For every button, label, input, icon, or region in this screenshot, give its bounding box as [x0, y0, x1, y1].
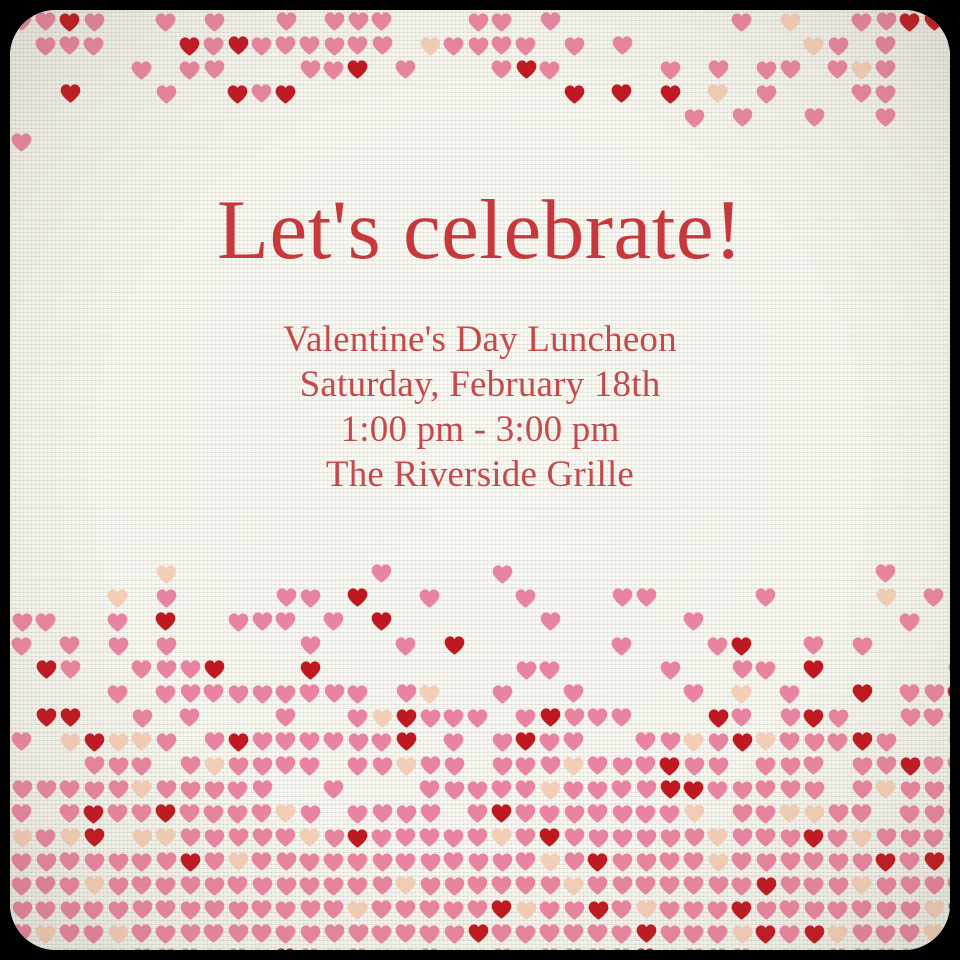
heart-icon [132, 947, 153, 950]
heart-icon [84, 852, 105, 873]
heart-icon [924, 875, 945, 896]
heart-icon [252, 827, 273, 848]
heart-icon [347, 900, 368, 921]
heart-icon [491, 803, 512, 824]
heart-icon [588, 828, 609, 849]
heart-icon [515, 851, 536, 872]
heart-icon [107, 948, 128, 950]
heart-icon [275, 731, 296, 752]
heart-icon [948, 732, 950, 753]
heart-icon [252, 876, 273, 897]
heart-icon [468, 12, 489, 33]
heart-icon [396, 708, 417, 729]
heart-icon [924, 11, 945, 32]
heart-icon [852, 756, 873, 777]
heart-icon [563, 923, 584, 944]
heart-icon [84, 875, 105, 896]
heart-icon [228, 35, 249, 56]
heart-icon [684, 947, 705, 950]
heart-icon [131, 779, 152, 800]
heart-icon [443, 900, 464, 921]
heart-icon [491, 923, 512, 944]
heart-icon [372, 948, 393, 950]
heart-icon [707, 900, 728, 921]
heart-icon [180, 780, 201, 801]
heart-icon [35, 612, 56, 633]
heart-icon [108, 876, 129, 897]
heart-icon [708, 756, 729, 777]
heart-icon [228, 851, 249, 872]
heart-icon [179, 707, 200, 728]
heart-icon [132, 899, 153, 920]
heart-icon [156, 636, 177, 657]
heart-icon [708, 708, 729, 729]
heart-icon [396, 683, 417, 704]
heart-icon [300, 588, 321, 609]
heart-icon [156, 779, 177, 800]
heart-icon [660, 660, 681, 681]
heart-icon [396, 731, 417, 752]
heart-icon [323, 876, 344, 897]
heart-icon [851, 899, 872, 920]
heart-icon [251, 923, 272, 944]
heart-icon [444, 635, 465, 656]
invitation-text-block: Let's celebrate! Valentine's Day Luncheo… [10, 188, 950, 497]
heart-icon [948, 851, 950, 872]
heart-icon [875, 779, 896, 800]
heart-icon [587, 852, 608, 873]
heart-icon [851, 83, 872, 104]
heart-icon [35, 828, 56, 849]
heart-icon [612, 587, 633, 608]
heart-icon [900, 947, 921, 950]
heart-icon [324, 11, 345, 32]
heart-icon [131, 60, 152, 81]
heart-icon [659, 875, 680, 896]
heart-icon [156, 588, 177, 609]
heart-icon [228, 827, 249, 848]
heart-icon [36, 948, 57, 950]
heart-icon [204, 828, 225, 849]
heart-icon [395, 899, 416, 920]
heart-icon [276, 11, 297, 32]
heart-icon [900, 707, 921, 728]
heart-icon [132, 708, 153, 729]
heart-icon [756, 84, 777, 105]
heart-icon [467, 708, 488, 729]
heart-icon [683, 611, 704, 632]
heart-icon [659, 948, 680, 950]
heart-icon [419, 899, 440, 920]
heart-icon [300, 804, 321, 825]
heart-icon [492, 756, 513, 777]
heart-icon [84, 948, 105, 950]
heart-icon [923, 707, 944, 728]
detail-line-event: Valentine's Day Luncheon [10, 317, 950, 362]
heart-icon [683, 924, 704, 945]
heart-icon [707, 947, 728, 950]
heart-icon [347, 876, 368, 897]
heart-icon [924, 804, 945, 825]
heart-icon [252, 684, 273, 705]
heart-icon [227, 84, 248, 105]
heart-icon [59, 851, 80, 872]
heart-icon [708, 875, 729, 896]
detail-line-venue: The Riverside Grille [10, 452, 950, 497]
heart-icon [59, 635, 80, 656]
heart-icon [780, 12, 801, 33]
heart-icon [851, 12, 872, 33]
heart-icon [179, 60, 200, 81]
heart-icon [108, 732, 129, 753]
heart-icon [252, 731, 273, 752]
heart-icon [876, 947, 897, 950]
heart-icon [515, 924, 536, 945]
heart-icon [204, 899, 225, 920]
heart-icon [252, 948, 273, 950]
heart-icon [131, 875, 152, 896]
heart-icon [755, 587, 776, 608]
heart-icon [204, 731, 225, 752]
heart-icon [491, 59, 512, 80]
heart-icon [612, 852, 633, 873]
heart-icon [251, 851, 272, 872]
heart-icon [827, 924, 848, 945]
heart-icon [323, 852, 344, 873]
heart-icon [347, 852, 368, 873]
heart-icon [299, 731, 320, 752]
heart-icon [180, 852, 201, 873]
heart-icon [107, 588, 128, 609]
heart-icon [156, 564, 177, 585]
heart-icon [828, 803, 849, 824]
heart-icon [131, 852, 152, 873]
heart-icon [155, 611, 176, 632]
heart-icon [636, 923, 657, 944]
heart-icon [419, 924, 440, 945]
heart-icon [108, 924, 129, 945]
heart-icon [731, 900, 752, 921]
heart-icon [155, 12, 176, 33]
heart-icon [204, 12, 225, 33]
heart-icon [467, 948, 488, 950]
heart-icon [228, 900, 249, 921]
heart-icon [947, 875, 950, 896]
heart-icon [660, 84, 681, 105]
heart-icon [803, 659, 824, 680]
heart-icon [563, 731, 584, 752]
heart-icon [491, 35, 512, 56]
heart-icon [299, 876, 320, 897]
heart-icon [923, 923, 944, 944]
heart-icon [852, 683, 873, 704]
heart-icon [227, 875, 248, 896]
heart-icon [587, 780, 608, 801]
heart-icon [899, 12, 920, 33]
heart-icon [203, 804, 224, 825]
heart-icon [659, 851, 680, 872]
heart-icon [252, 756, 273, 777]
heart-icon [275, 684, 296, 705]
heart-icon [876, 827, 897, 848]
heart-icon [827, 732, 848, 753]
heart-icon [204, 948, 225, 950]
heart-icon [228, 923, 249, 944]
heart-icon [444, 756, 465, 777]
heart-icon [804, 780, 825, 801]
heart-icon [275, 803, 296, 824]
heart-icon [468, 852, 489, 873]
heart-icon [35, 11, 56, 32]
heart-icon [780, 756, 801, 777]
heart-icon [180, 900, 201, 921]
heart-icon [275, 924, 296, 945]
heart-icon [227, 947, 248, 950]
heart-icon [155, 899, 176, 920]
heart-icon [804, 732, 825, 753]
heart-icon [683, 900, 704, 921]
heart-icon [275, 900, 296, 921]
heart-icon [515, 731, 536, 752]
heart-icon [923, 828, 944, 849]
heart-icon [923, 947, 944, 950]
heart-icon [827, 59, 848, 80]
heart-icon [851, 828, 872, 849]
heart-icon [539, 900, 560, 921]
heart-icon [731, 876, 752, 897]
heart-icon [540, 852, 561, 873]
heart-icon [12, 828, 33, 849]
heart-icon [755, 827, 776, 848]
heart-icon [12, 779, 33, 800]
heart-icon [539, 923, 560, 944]
heart-icon [59, 923, 80, 944]
heart-icon [828, 876, 849, 897]
heart-icon [11, 876, 32, 897]
heart-icon [155, 924, 176, 945]
heart-icon [323, 731, 344, 752]
heart-icon [156, 947, 177, 950]
heart-icon [60, 707, 81, 728]
heart-icon [683, 875, 704, 896]
heart-icon [372, 708, 393, 729]
heart-icon [852, 779, 873, 800]
heart-icon [395, 923, 416, 944]
heart-icon [732, 732, 753, 753]
heart-icon [227, 780, 248, 801]
heart-icon [324, 828, 345, 849]
heart-icon [851, 875, 872, 896]
heart-icon [107, 803, 128, 824]
heart-icon [564, 827, 585, 848]
heart-icon [684, 827, 705, 848]
heart-icon [660, 828, 681, 849]
heart-icon [683, 732, 704, 753]
heart-icon [228, 756, 249, 777]
heart-icon [251, 36, 272, 57]
heart-icon [924, 683, 945, 704]
heart-icon [59, 12, 80, 33]
heart-icon [60, 900, 81, 921]
heart-icon [492, 732, 513, 753]
heart-icon [900, 900, 921, 921]
heart-icon [851, 60, 872, 81]
heart-icon [588, 900, 609, 921]
heart-icon [828, 852, 849, 873]
heart-icon [468, 923, 489, 944]
heart-icon [756, 900, 777, 921]
heart-icon [539, 660, 560, 681]
heart-icon [563, 876, 584, 897]
heart-icon [443, 732, 464, 753]
heart-icon [875, 35, 896, 56]
heart-icon [516, 59, 537, 80]
heart-icon [300, 635, 321, 656]
heart-icon [323, 948, 344, 950]
heart-icon [11, 803, 32, 824]
heart-icon [876, 876, 897, 897]
heart-icon [299, 756, 320, 777]
heart-icon [228, 684, 249, 705]
heart-icon [108, 900, 129, 921]
heart-icon [444, 780, 465, 801]
heart-icon [708, 852, 729, 873]
heart-icon [371, 732, 392, 753]
heart-icon [180, 755, 201, 776]
heart-icon [875, 563, 896, 584]
heart-icon [660, 731, 681, 752]
heart-icon [131, 803, 152, 824]
heart-icon [779, 924, 800, 945]
heart-icon [636, 779, 657, 800]
heart-icon [347, 804, 368, 825]
heart-icon [515, 708, 536, 729]
heart-icon [347, 708, 368, 729]
heart-icon [539, 804, 560, 825]
heart-icon [83, 900, 104, 921]
heart-icon [299, 947, 320, 950]
heart-icon [923, 755, 944, 776]
heart-icon [636, 852, 657, 873]
heart-icon [347, 59, 368, 80]
heart-icon [755, 779, 776, 800]
heart-icon [900, 756, 921, 777]
heart-icon [156, 732, 177, 753]
heart-icon [251, 803, 272, 824]
detail-line-time: 1:00 pm - 3:00 pm [10, 407, 950, 452]
heart-icon [827, 900, 848, 921]
heart-icon [612, 804, 633, 825]
heart-icon [131, 756, 152, 777]
heart-icon [395, 59, 416, 80]
heart-icon [155, 803, 176, 824]
heart-icon [83, 36, 104, 57]
heart-icon [899, 804, 920, 825]
heart-icon [300, 924, 321, 945]
heart-icon [492, 947, 513, 950]
heart-icon [83, 804, 104, 825]
heart-icon [540, 755, 561, 776]
heart-icon [852, 947, 873, 950]
heart-icon [420, 803, 441, 824]
heart-icon [347, 756, 368, 777]
heart-icon [707, 83, 728, 104]
heart-icon [587, 755, 608, 776]
heart-icon [180, 827, 201, 848]
heart-icon [132, 828, 153, 849]
heart-icon [395, 827, 416, 848]
heart-icon [731, 947, 752, 950]
heart-icon [683, 851, 704, 872]
heart-icon [252, 779, 273, 800]
heart-icon [947, 684, 950, 705]
heart-icon [108, 756, 129, 777]
heart-icon [947, 36, 950, 57]
heart-icon [36, 659, 57, 680]
heart-icon [731, 851, 752, 872]
heart-icon [564, 36, 585, 57]
heart-icon [347, 587, 368, 608]
heart-icon [947, 755, 950, 776]
heart-icon [396, 804, 417, 825]
heart-icon [612, 875, 633, 896]
heart-icon [828, 36, 849, 57]
invitation-card: Let's celebrate! Valentine's Day Luncheo… [10, 10, 950, 950]
heart-icon [539, 60, 560, 81]
heart-icon [876, 587, 897, 608]
heart-icon [780, 875, 801, 896]
heart-icon [611, 636, 632, 657]
heart-icon [348, 732, 369, 753]
heart-icon [660, 779, 681, 800]
heart-icon [684, 108, 705, 129]
heart-icon [491, 827, 512, 848]
heart-icon [755, 804, 776, 825]
heart-icon [35, 36, 56, 57]
heart-icon [251, 83, 272, 104]
heart-icon [324, 923, 345, 944]
heart-icon [564, 900, 585, 921]
heart-icon [276, 876, 297, 897]
heart-icon [803, 876, 824, 897]
heart-icon [299, 35, 320, 56]
heart-icon [516, 900, 537, 921]
heart-icon [372, 875, 393, 896]
heart-icon [108, 852, 129, 873]
heart-icon [636, 828, 657, 849]
heart-icon [515, 756, 536, 777]
heart-icon [923, 587, 944, 608]
heart-icon [180, 683, 201, 704]
heart-icon [900, 780, 921, 801]
heart-icon [275, 827, 296, 848]
heart-icon [803, 708, 824, 729]
heart-icon [179, 947, 200, 950]
heart-icon [540, 611, 561, 632]
heart-icon [948, 780, 951, 801]
heart-icon [804, 804, 825, 825]
heart-icon [587, 923, 608, 944]
heart-icon [347, 828, 368, 849]
heart-icon [155, 876, 176, 897]
heart-icon [324, 683, 345, 704]
heart-icon [755, 756, 776, 777]
heart-icon [300, 899, 321, 920]
heart-icon [659, 756, 680, 777]
heart-icon [467, 875, 488, 896]
heart-icon [611, 83, 632, 104]
heart-icon [371, 11, 392, 32]
